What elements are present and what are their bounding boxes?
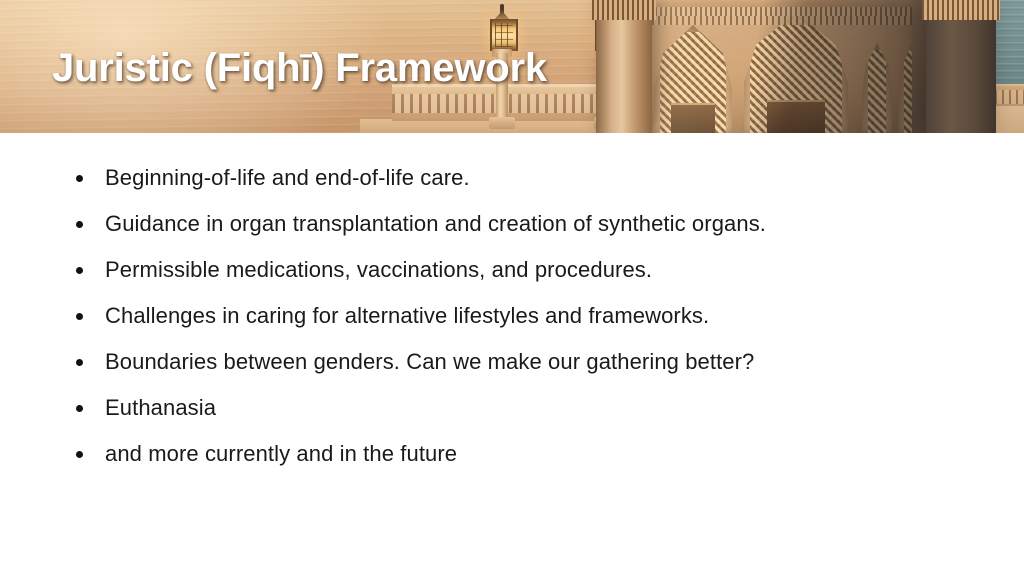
list-item-label: Guidance in organ transplantation and cr… <box>105 211 766 236</box>
list-item: Permissible medications, vaccinations, a… <box>72 255 952 285</box>
bullet-dot-icon <box>76 221 83 228</box>
list-item-label: Beginning-of-life and end-of-life care. <box>105 165 470 190</box>
column-capital <box>592 0 656 20</box>
list-item-label: Challenges in caring for alternative lif… <box>105 303 709 328</box>
list-item-label: and more currently and in the future <box>105 441 457 466</box>
column-capital <box>922 0 1000 20</box>
bullet-dot-icon <box>76 359 83 366</box>
list-item-label: Permissible medications, vaccinations, a… <box>105 257 652 282</box>
list-item: Euthanasia <box>72 393 952 423</box>
bullet-dot-icon <box>76 175 83 182</box>
page-title: Juristic (Fiqhī) Framework <box>52 45 547 91</box>
bullet-dot-icon <box>76 405 83 412</box>
facade-shading <box>640 0 940 133</box>
list-item: and more currently and in the future <box>72 439 952 469</box>
list-item-label: Euthanasia <box>105 395 216 420</box>
list-item: Challenges in caring for alternative lif… <box>72 301 952 331</box>
bullet-list: Beginning-of-life and end-of-life care. … <box>72 163 952 469</box>
stone-column <box>596 0 652 133</box>
list-item: Beginning-of-life and end-of-life care. <box>72 163 952 193</box>
bullet-dot-icon <box>76 451 83 458</box>
list-item: Boundaries between genders. Can we make … <box>72 347 952 377</box>
title-banner: Juristic (Fiqhī) Framework <box>0 0 1024 133</box>
list-item: Guidance in organ transplantation and cr… <box>72 209 952 239</box>
stone-column <box>926 0 996 133</box>
slide-body: Beginning-of-life and end-of-life care. … <box>0 133 1024 576</box>
bullet-dot-icon <box>76 267 83 274</box>
bullet-dot-icon <box>76 313 83 320</box>
list-item-label: Boundaries between genders. Can we make … <box>105 349 754 374</box>
slide: Juristic (Fiqhī) Framework Beginning-of-… <box>0 0 1024 576</box>
lamp-post-base <box>489 117 515 129</box>
mosque-facade <box>640 0 940 133</box>
